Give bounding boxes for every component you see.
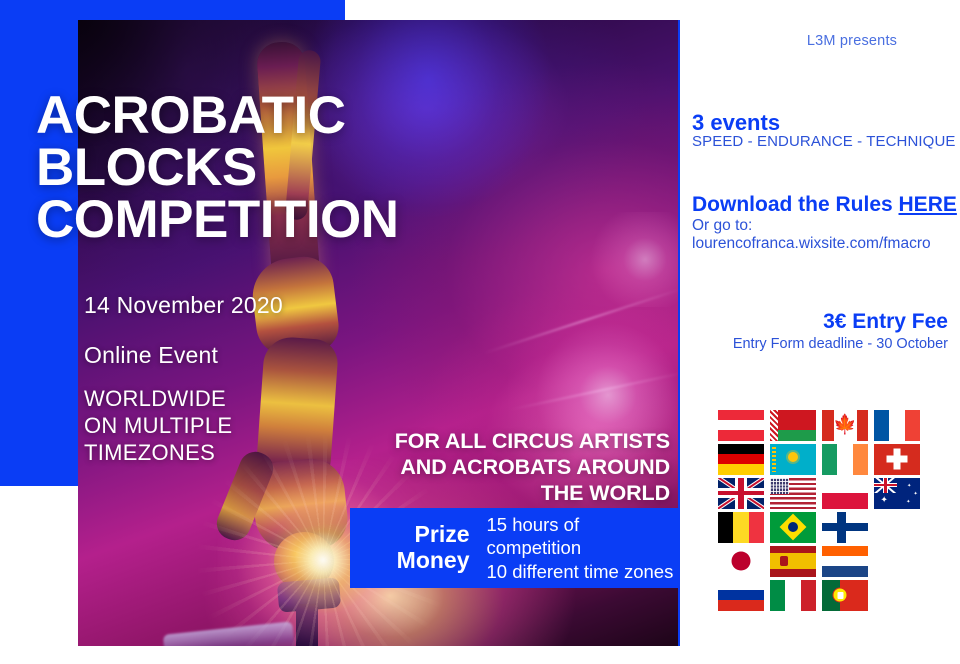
- prize-label-line-2: Money: [360, 548, 470, 574]
- poland-flag: [822, 478, 868, 509]
- belgium-flag: [718, 512, 764, 543]
- prize-money-banner: Prize Money 15 hours of competition 10 d…: [350, 508, 678, 588]
- france-flag: [874, 410, 920, 441]
- italy-flag: [770, 580, 816, 611]
- rules-website-url: Or go to: lourencofranca.wixsite.com/fma…: [692, 217, 960, 253]
- united-kingdom-flag: [718, 478, 764, 509]
- headline-line-1: ACROBATIC: [36, 90, 676, 142]
- prize-money-details: 15 hours of competition 10 different tim…: [487, 513, 678, 582]
- poster-canvas: ACROBATIC BLOCKS COMPETITION 14 November…: [0, 0, 960, 664]
- belarus-flag: [770, 410, 816, 441]
- audience-line-2: AND ACROBATS AROUND: [330, 454, 670, 480]
- ireland-flag: [822, 444, 868, 475]
- participating-countries-flags: 🍁✦✦✦✦: [718, 408, 954, 612]
- worldwide-note: WORLDWIDE ON MULTIPLE TIMEZONES: [84, 386, 232, 466]
- netherlands-flag: [822, 546, 868, 577]
- spain-flag: [770, 546, 816, 577]
- prize-money-label: Prize Money: [360, 522, 470, 574]
- united-states-flag: [770, 478, 816, 509]
- kazakhstan-flag: [770, 444, 816, 475]
- headline-line-2: BLOCKS: [36, 142, 676, 194]
- audience-note: FOR ALL CIRCUS ARTISTS AND ACROBATS AROU…: [330, 428, 670, 507]
- switzerland-flag: [874, 444, 920, 475]
- russia-flag: [718, 580, 764, 611]
- event-type: Online Event: [84, 342, 218, 369]
- australia-flag: ✦✦✦✦: [874, 478, 920, 509]
- rules-link[interactable]: HERE: [899, 193, 957, 216]
- headline-line-3: COMPETITION: [36, 194, 676, 246]
- canada-flag: 🍁: [822, 410, 868, 441]
- presenter-credit: L3M presents: [752, 33, 952, 49]
- page-title: ACROBATIC BLOCKS COMPETITION: [36, 90, 676, 246]
- audience-line-3: THE WORLD: [330, 480, 670, 506]
- empty-slot: [874, 546, 920, 577]
- entry-fee-title: 3€ Entry Fee: [712, 310, 948, 334]
- empty-slot: [874, 580, 920, 611]
- worldwide-line-1: WORLDWIDE: [84, 386, 232, 413]
- worldwide-line-2: ON MULTIPLE: [84, 413, 232, 440]
- austria-flag: [718, 410, 764, 441]
- prize-label-line-1: Prize: [360, 522, 470, 548]
- events-list: SPEED - ENDURANCE - TECHNIQUE: [692, 133, 956, 150]
- empty-slot: [874, 512, 920, 543]
- germany-flag: [718, 444, 764, 475]
- prize-detail-line-2: 10 different time zones: [487, 560, 678, 583]
- prize-detail-line-1: 15 hours of competition: [487, 513, 678, 559]
- entry-deadline: Entry Form deadline - 30 October: [692, 336, 948, 352]
- japan-flag: [718, 546, 764, 577]
- audience-line-1: FOR ALL CIRCUS ARTISTS: [330, 428, 670, 454]
- download-rules-text: Download the Rules: [692, 193, 899, 216]
- portugal-flag: [822, 580, 868, 611]
- event-date: 14 November 2020: [84, 292, 283, 319]
- finland-flag: [822, 512, 868, 543]
- brazil-flag: [770, 512, 816, 543]
- worldwide-line-3: TIMEZONES: [84, 440, 232, 467]
- download-rules-heading: Download the Rules HERE: [692, 193, 957, 217]
